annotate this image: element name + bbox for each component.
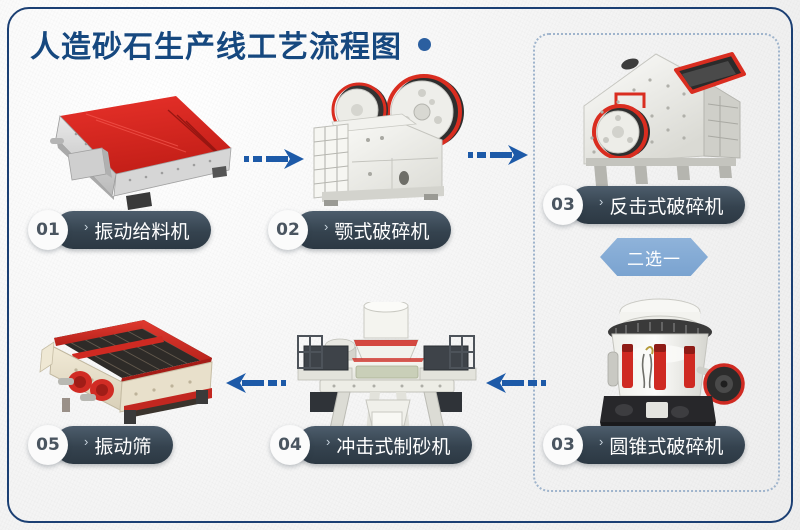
chevron-right-icon: › <box>84 219 88 234</box>
chevron-right-icon: › <box>599 434 603 449</box>
step-number-05: 05 <box>28 425 68 465</box>
arrow-jaw-to-impact <box>468 142 530 173</box>
step-title-vibrating-feeder: 振动给料机 <box>94 217 189 244</box>
step-number-03-impact: 03 <box>543 185 583 225</box>
chevron-right-icon: › <box>326 434 330 449</box>
step-label-01[interactable]: 01 › 振动给料机 <box>28 210 211 250</box>
step-pill-vibrating-screen[interactable]: › 振动筛 <box>54 426 173 464</box>
bullet-dot-icon <box>418 38 431 51</box>
arrow-feeder-to-jaw <box>244 146 306 177</box>
step-pill-cone-crusher[interactable]: › 圆锥式破碎机 <box>569 426 745 464</box>
machine-image-sand-making-machine <box>284 302 488 442</box>
step-label-04[interactable]: 04 › 冲击式制砂机 <box>270 425 472 465</box>
step-pill-vibrating-feeder[interactable]: › 振动给料机 <box>54 211 211 249</box>
step-pill-impact-crusher[interactable]: › 反击式破碎机 <box>569 186 745 224</box>
machine-image-vibrating-feeder <box>26 88 241 213</box>
step-label-03-cone[interactable]: 03 › 圆锥式破碎机 <box>543 425 745 465</box>
step-pill-jaw-crusher[interactable]: › 颚式破碎机 <box>294 211 451 249</box>
step-title-impact-crusher: 反击式破碎机 <box>609 192 723 219</box>
machine-image-impact-crusher <box>572 46 750 191</box>
step-label-03-impact[interactable]: 03 › 反击式破碎机 <box>543 185 745 225</box>
step-title-vibrating-screen: 振动筛 <box>94 432 151 459</box>
machine-image-jaw-crusher <box>306 62 476 214</box>
step-number-03-cone: 03 <box>543 425 583 465</box>
step-number-01: 01 <box>28 210 68 250</box>
machine-image-vibrating-screen <box>36 302 236 432</box>
flowchart-page: 人造砂石生产线工艺流程图 <box>0 0 800 530</box>
arrow-cone-to-sand <box>484 370 546 401</box>
step-title-sand-making-machine: 冲击式制砂机 <box>336 432 450 459</box>
chevron-right-icon: › <box>324 219 328 234</box>
step-title-cone-crusher: 圆锥式破碎机 <box>609 432 723 459</box>
step-number-02: 02 <box>268 210 308 250</box>
page-title: 人造砂石生产线工艺流程图 <box>30 22 402 66</box>
page-title-row: 人造砂石生产线工艺流程图 <box>30 22 431 66</box>
arrow-sand-to-screen <box>224 370 286 401</box>
machine-image-cone-crusher <box>588 292 748 442</box>
step-label-05[interactable]: 05 › 振动筛 <box>28 425 173 465</box>
chevron-right-icon: › <box>599 194 603 209</box>
alternative-choice-label: 二选一 <box>627 245 681 270</box>
step-title-jaw-crusher: 颚式破碎机 <box>334 217 429 244</box>
step-label-02[interactable]: 02 › 颚式破碎机 <box>268 210 451 250</box>
alternative-choice-badge: 二选一 <box>600 238 708 276</box>
step-number-04: 04 <box>270 425 310 465</box>
chevron-right-icon: › <box>84 434 88 449</box>
step-pill-sand-making-machine[interactable]: › 冲击式制砂机 <box>296 426 472 464</box>
